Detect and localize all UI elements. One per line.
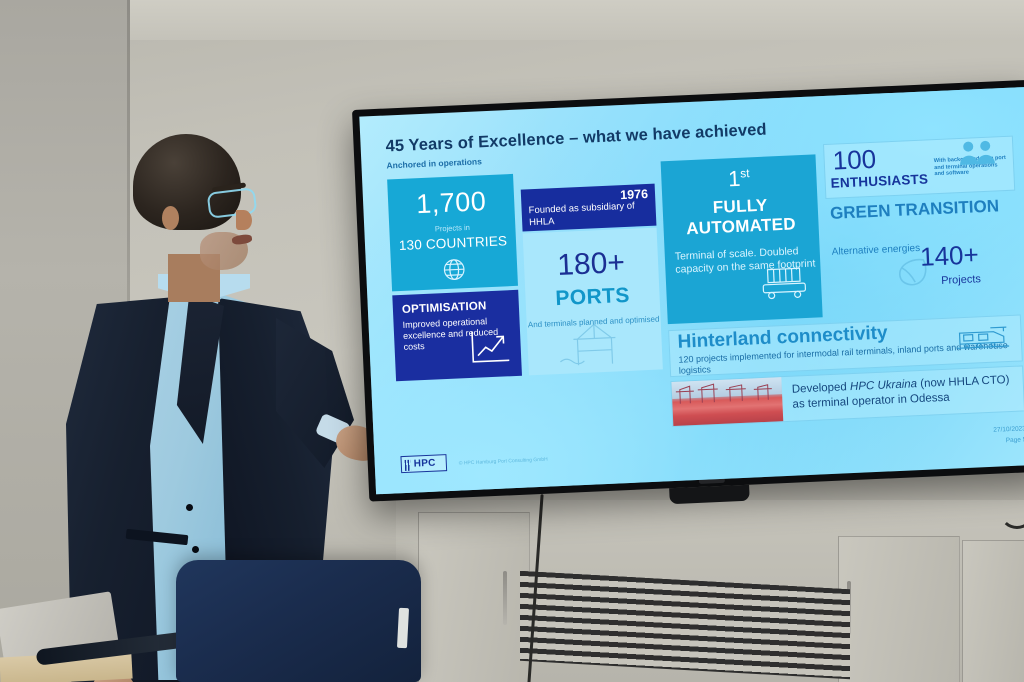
tile-green-transition: GREEN TRANSITION Alternative energies 14… (826, 196, 1021, 317)
enthusiasts-label: ENTHUSIASTS (830, 171, 928, 190)
ukraina-text-italic: HPC Ukraina (850, 378, 918, 393)
office-chair (176, 560, 421, 682)
logo-text: HPC (414, 458, 436, 470)
cabinet-door-right[interactable] (838, 536, 960, 682)
blazer-button (186, 504, 193, 511)
cabinet-door-far-right[interactable] (962, 540, 1024, 682)
cabinet-door-left[interactable] (418, 512, 530, 682)
automated-rank-number: 1 (728, 166, 741, 192)
cabinet-handle[interactable] (503, 571, 507, 625)
countries-caption-bottom: 130 COUNTRIES (390, 233, 517, 254)
ceiling (0, 0, 1024, 40)
port-terminal-photo (671, 377, 783, 426)
wall-mounted-tv: 45 Years of Excellence – what we have ac… (352, 80, 1024, 502)
mouth (231, 234, 252, 246)
tile-founded: 1976 Founded as subsidiary of HHLA (521, 184, 657, 232)
blazer-button (192, 546, 199, 553)
ear (162, 206, 179, 230)
radiator-grille (520, 571, 850, 679)
tile-ports: 180+ PORTS And terminals planned and opt… (523, 228, 663, 376)
countries-number: 1,700 (388, 185, 515, 222)
footer-page-number: Page 5 (1006, 436, 1024, 444)
logo-bars-icon (405, 459, 411, 470)
people-icon (956, 139, 997, 172)
slide-title: 45 Years of Excellence – what we have ac… (385, 121, 767, 157)
footer-copyright: © HPC Hamburg Port Consulting GmbH (459, 457, 548, 467)
ukraina-text-before: Developed (792, 381, 851, 396)
tile-optimisation: OPTIMISATION Improved operational excell… (392, 290, 522, 382)
green-number: 140+ (919, 239, 979, 273)
automated-gantry-icon (758, 264, 810, 307)
hpc-logo: HPC (400, 454, 447, 473)
ukraina-text: Developed HPC Ukraina (now HHLA CTO) as … (792, 373, 1016, 413)
globe-icon (441, 256, 468, 288)
optimisation-heading: OPTIMISATION (402, 300, 487, 316)
slide-subtitle: Anchored in operations (386, 156, 482, 170)
tile-enthusiasts: 100 ENTHUSIASTS With background from por… (823, 136, 1015, 199)
screenshot-stage: 45 Years of Excellence – what we have ac… (0, 0, 1024, 682)
tile-automated: 1st FULLY AUTOMATED Terminal of scale. D… (661, 154, 823, 324)
automated-rank: 1st (661, 162, 817, 195)
nose (236, 210, 252, 230)
presentation-slide: 45 Years of Excellence – what we have ac… (359, 87, 1024, 494)
green-caption: Projects (941, 273, 981, 287)
founded-text: Founded as subsidiary of HHLA (528, 200, 650, 228)
enthusiasts-number: 100 (832, 144, 877, 177)
chair-tag (397, 608, 409, 648)
train-icon (956, 322, 1012, 359)
tile-countries: 1,700 Projects in 130 COUNTRIES (387, 174, 518, 291)
footer-date: 27/10/2023 (993, 425, 1024, 433)
ports-number: 180+ (523, 245, 658, 285)
green-heading: GREEN TRANSITION (830, 196, 1000, 223)
ports-label: PORTS (525, 283, 660, 313)
growth-chart-icon (469, 328, 513, 371)
automated-rank-suffix: st (740, 166, 750, 180)
